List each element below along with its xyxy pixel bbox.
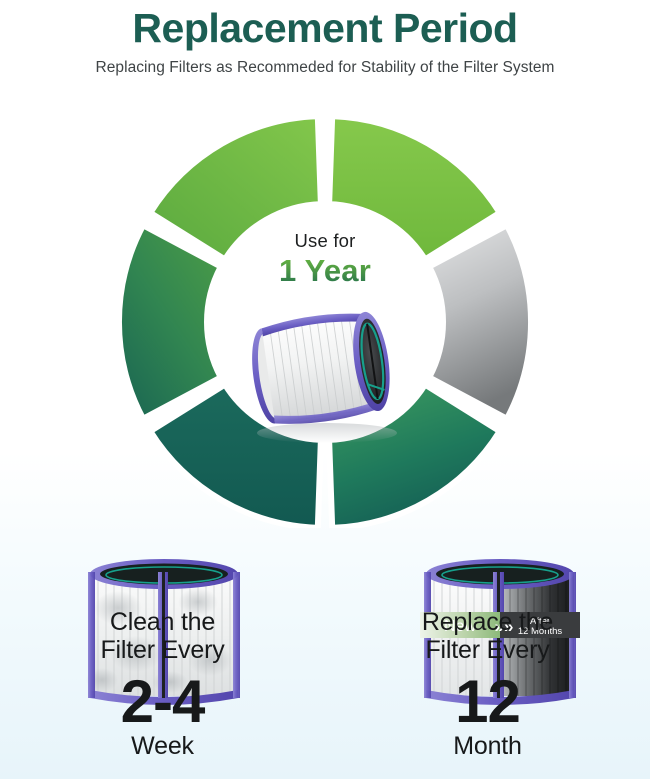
clean-filter-column: Clean the Filter Every 2-4 Week [0,608,325,779]
donut-diagram: Use for 1 Year [0,98,650,598]
clean-heading-line2: Filter Every [100,636,224,664]
clean-column-heading: Clean the Filter Every [0,608,325,664]
replace-column-heading: Replace the Filter Every [325,608,650,664]
clean-interval-number: 2-4 [0,672,325,732]
clean-interval-unit: Week [0,733,325,759]
clean-heading-line1: Clean the [110,608,215,636]
header: Replacement Period Replacing Filters as … [0,0,650,77]
summary-columns: Clean the Filter Every 2-4 Week Replace … [0,608,650,779]
replace-filter-column: Replace the Filter Every 12 Month [325,608,650,779]
use-for-label: Use for [0,230,650,252]
replace-heading-line1: Replace the [422,608,553,636]
hero-filter-image [232,294,418,444]
replace-interval-unit: Month [325,733,650,759]
page-subtitle: Replacing Filters as Recommeded for Stab… [0,59,650,77]
page-title: Replacement Period [0,6,650,50]
duration-value: 1 Year [0,253,650,289]
replace-heading-line2: Filter Every [425,636,549,664]
replace-interval-number: 12 [325,672,650,732]
